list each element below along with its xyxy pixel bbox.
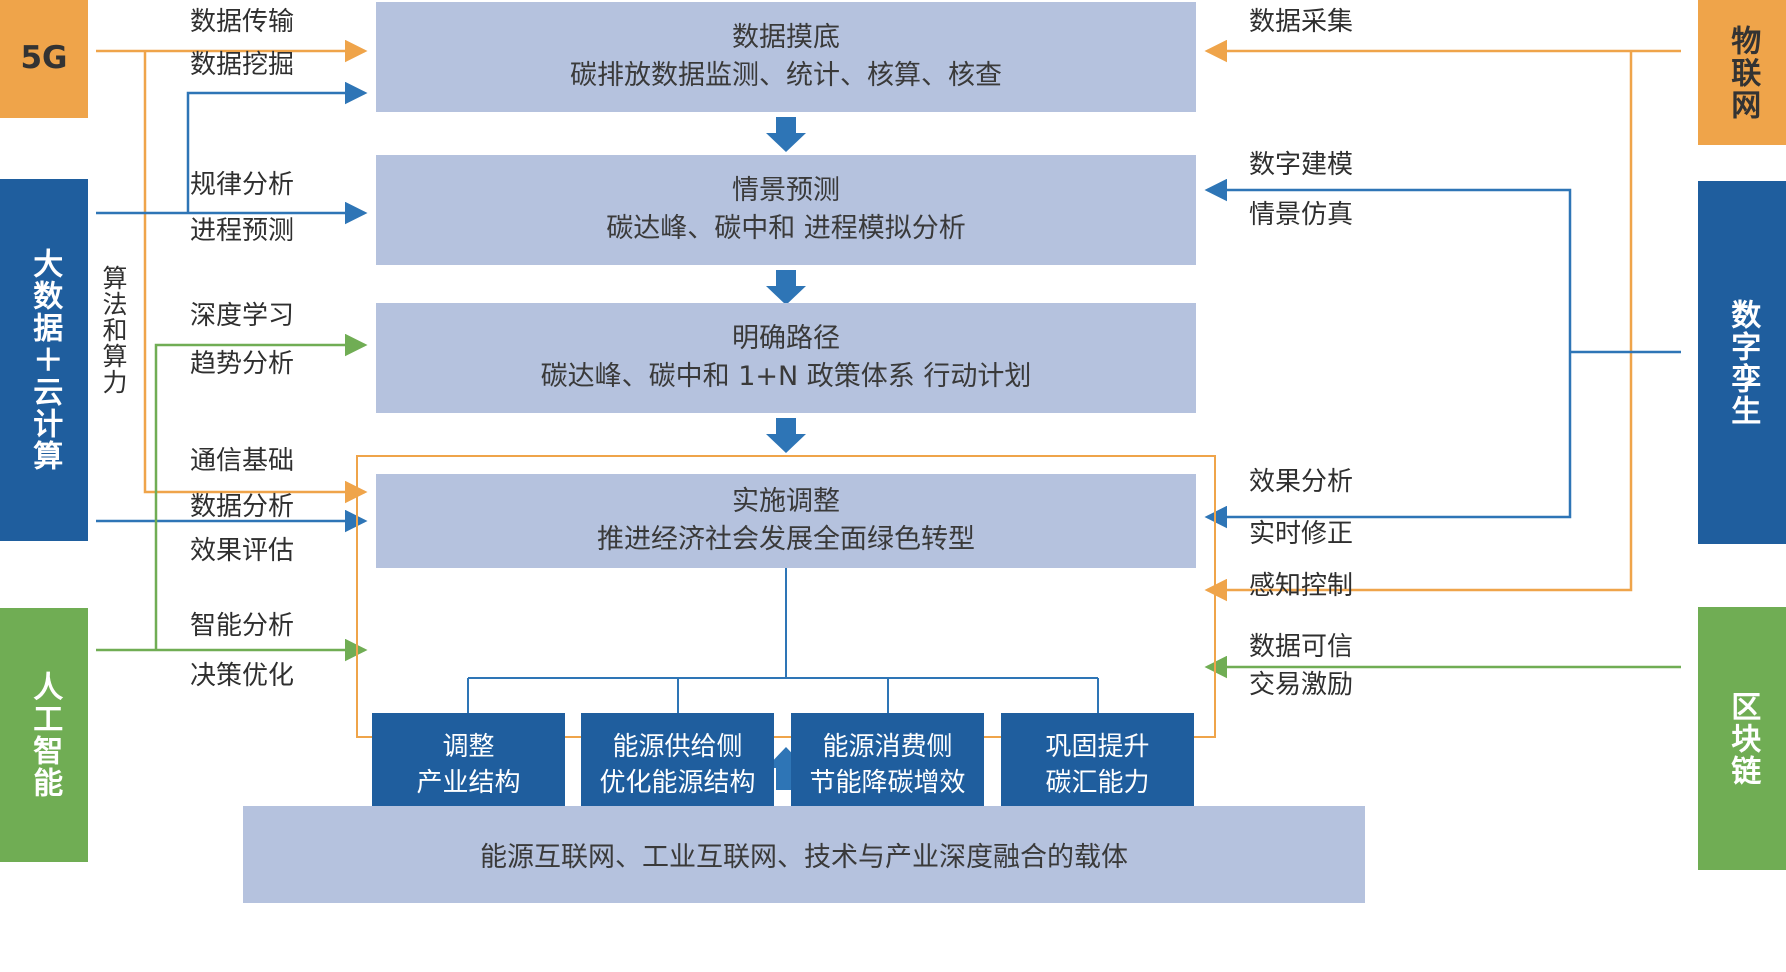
pillar-iot-label: 物联网 — [1727, 25, 1758, 121]
action-energy-consumption[interactable]: 能源消费侧 节能降碳增效 — [791, 713, 984, 818]
pillar-blockchain-label: 区块链 — [1727, 691, 1758, 787]
edge-label-effect-analysis: 效果分析 — [1249, 469, 1353, 495]
action-carbon-sink-line2: 碳汇能力 — [1045, 766, 1149, 801]
edge-label-decision-optimization: 决策优化 — [190, 663, 294, 689]
stage-implement-adjust-title: 实施调整 — [732, 483, 840, 521]
edge-label-comm-foundation: 通信基础 — [190, 448, 294, 474]
diagram-canvas: 5G 大数据＋云计算 人工智能 物联网 数字孪生 区块链 算法和算力 数据传输 … — [0, 0, 1786, 972]
action-carbon-sink-line1: 巩固提升 — [1045, 730, 1149, 765]
action-adjust-industry-line2: 产业结构 — [416, 766, 520, 801]
carrier-bar[interactable]: 能源互联网、工业互联网、技术与产业深度融合的载体 — [243, 806, 1365, 903]
carrier-bar-label: 能源互联网、工业互联网、技术与产业深度融合的载体 — [480, 835, 1128, 874]
stage-data-survey-subtitle: 碳排放数据监测、统计、核算、核查 — [570, 57, 1002, 95]
edge-label-data-transmission: 数据传输 — [190, 9, 294, 35]
edge-label-pattern-analysis: 规律分析 — [190, 172, 294, 198]
pillar-blockchain[interactable]: 区块链 — [1698, 607, 1786, 870]
edge-label-process-forecast: 进程预测 — [190, 218, 294, 244]
action-energy-consumption-line2: 节能降碳增效 — [809, 766, 965, 801]
stage-implement-adjust-subtitle: 推进经济社会发展全面绿色转型 — [597, 521, 975, 559]
stage-implement-adjust[interactable]: 实施调整 推进经济社会发展全面绿色转型 — [376, 474, 1196, 568]
edge-label-transaction-incentive: 交易激励 — [1249, 672, 1353, 698]
pillar-bigdata-cloud-label: 大数据＋云计算 — [29, 248, 60, 472]
pillar-iot[interactable]: 物联网 — [1698, 0, 1786, 145]
stage-scenario-forecast[interactable]: 情景预测 碳达峰、碳中和 进程模拟分析 — [376, 155, 1196, 265]
pillar-ai[interactable]: 人工智能 — [0, 608, 88, 862]
action-energy-supply[interactable]: 能源供给侧 优化能源结构 — [581, 713, 774, 818]
stage-define-path-title: 明确路径 — [732, 320, 840, 358]
stage-scenario-forecast-subtitle: 碳达峰、碳中和 进程模拟分析 — [606, 210, 966, 248]
pillar-digital-twin[interactable]: 数字孪生 — [1698, 181, 1786, 544]
pillar-bigdata-cloud[interactable]: 大数据＋云计算 — [0, 179, 88, 541]
action-adjust-industry-line1: 调整 — [442, 730, 494, 765]
edge-label-data-analysis: 数据分析 — [190, 494, 294, 520]
stage-define-path[interactable]: 明确路径 碳达峰、碳中和 1+N 政策体系 行动计划 — [376, 303, 1196, 413]
edge-label-intelligent-analysis: 智能分析 — [190, 613, 294, 639]
pillar-ai-label: 人工智能 — [29, 671, 60, 799]
edge-label-data-trustworthy: 数据可信 — [1249, 634, 1353, 660]
stage-data-survey-title: 数据摸底 — [732, 19, 840, 57]
pillar-digital-twin-label: 数字孪生 — [1727, 299, 1758, 427]
algorithm-compute-label: 算法和算力 — [92, 265, 126, 455]
edge-label-effect-evaluation: 效果评估 — [190, 538, 294, 564]
pillar-5g[interactable]: 5G — [0, 0, 88, 118]
edge-label-digital-modeling: 数字建模 — [1249, 152, 1353, 178]
stage-data-survey[interactable]: 数据摸底 碳排放数据监测、统计、核算、核查 — [376, 2, 1196, 112]
edge-label-data-collection: 数据采集 — [1249, 9, 1353, 35]
edge-label-trend-analysis: 趋势分析 — [190, 351, 294, 377]
edge-label-realtime-correction: 实时修正 — [1249, 521, 1353, 547]
edge-label-deep-learning: 深度学习 — [190, 303, 294, 329]
action-energy-consumption-line1: 能源消费侧 — [822, 730, 952, 765]
stage-define-path-subtitle: 碳达峰、碳中和 1+N 政策体系 行动计划 — [541, 358, 1032, 396]
edge-label-scenario-simulation: 情景仿真 — [1249, 202, 1353, 228]
pillar-5g-label: 5G — [20, 43, 67, 75]
action-energy-supply-line2: 优化能源结构 — [599, 766, 755, 801]
stage-scenario-forecast-title: 情景预测 — [732, 172, 840, 210]
action-adjust-industry[interactable]: 调整 产业结构 — [372, 713, 565, 818]
action-energy-supply-line1: 能源供给侧 — [612, 730, 742, 765]
edge-label-data-mining: 数据挖掘 — [190, 52, 294, 78]
edge-label-sensing-control: 感知控制 — [1249, 573, 1353, 599]
action-carbon-sink[interactable]: 巩固提升 碳汇能力 — [1001, 713, 1194, 818]
